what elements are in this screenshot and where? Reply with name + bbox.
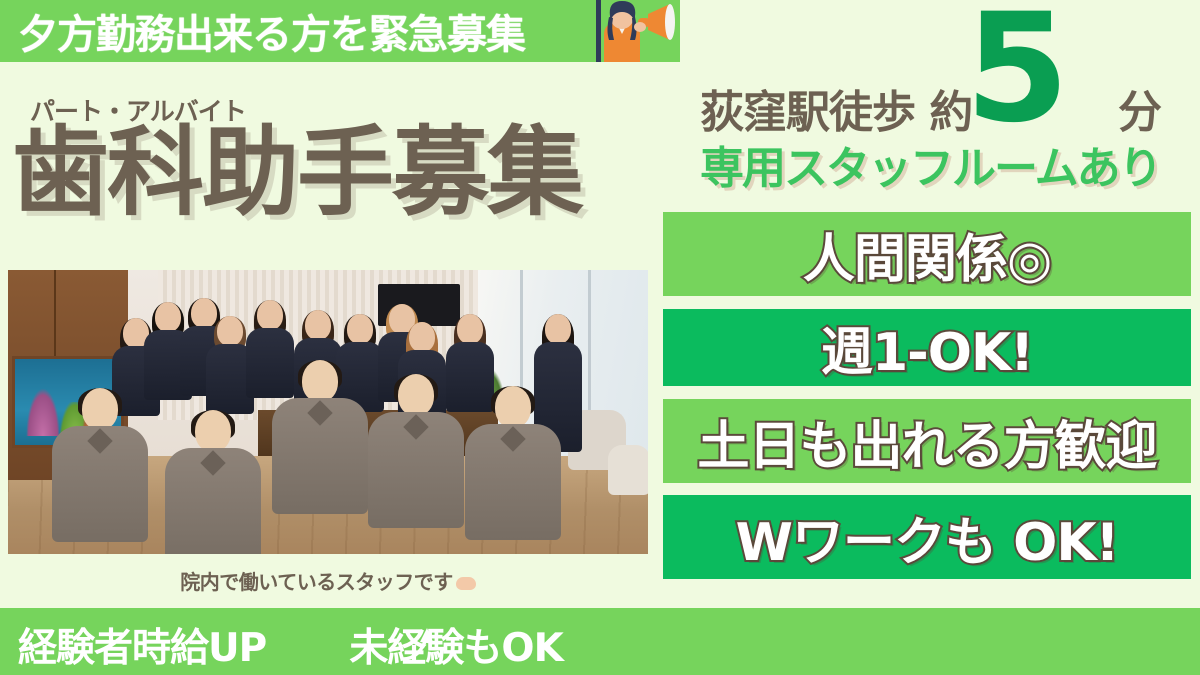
feature-box-double-work-ok: Wワークも OK! bbox=[663, 495, 1191, 579]
feature-label: 週1-OK! bbox=[821, 310, 1033, 385]
feature-box-weekly-once-ok: 週1-OK! bbox=[663, 309, 1191, 386]
waving-hand-icon bbox=[456, 577, 476, 590]
feature-label: Wワークも OK! bbox=[736, 500, 1119, 575]
wage-up-label: 経験者時給UP bbox=[18, 626, 266, 671]
photo-caption-text: 院内で働いているスタッフです bbox=[180, 570, 452, 594]
feature-box-human-relations: 人間関係◎ bbox=[663, 212, 1191, 296]
wage-up-text: 経験者時給UP 未経験もOK bbox=[18, 617, 563, 673]
feature-label: 人間関係◎ bbox=[803, 217, 1051, 292]
feature-box-weekend-welcome: 土日も出れる方歓迎 bbox=[663, 399, 1191, 483]
staff-group-photo bbox=[8, 270, 648, 554]
up-right-arrow-icon bbox=[400, 622, 444, 662]
staff-room-label: 専用スタッフルームあり bbox=[700, 132, 1161, 196]
photo-caption: 院内で働いているスタッフです bbox=[8, 566, 648, 595]
access-minutes-unit: 分 bbox=[1118, 76, 1162, 140]
bottom-green-bar: 経験者時給UP 未経験もOK OGIKUBO twin DENTAL 荻窪ツイン… bbox=[0, 608, 1200, 675]
feature-label: 土日も出れる方歓迎 bbox=[697, 404, 1156, 479]
no-experience-label: 未経験もOK bbox=[349, 626, 562, 671]
page-title: 歯科助手募集 bbox=[12, 122, 582, 224]
access-minutes-number: 5 bbox=[965, 0, 1063, 144]
access-walk-time-label: 荻窪駅徒歩 約 bbox=[700, 76, 972, 140]
megaphone-woman-icon bbox=[590, 0, 676, 62]
top-green-banner: 夕方勤務出来る方を緊急募集 bbox=[0, 0, 680, 62]
urgent-recruit-headline: 夕方勤務出来る方を緊急募集 bbox=[18, 2, 525, 60]
recruitment-banner: 夕方勤務出来る方を緊急募集 パート・アルバイト 歯科助手募集 bbox=[0, 0, 1200, 675]
